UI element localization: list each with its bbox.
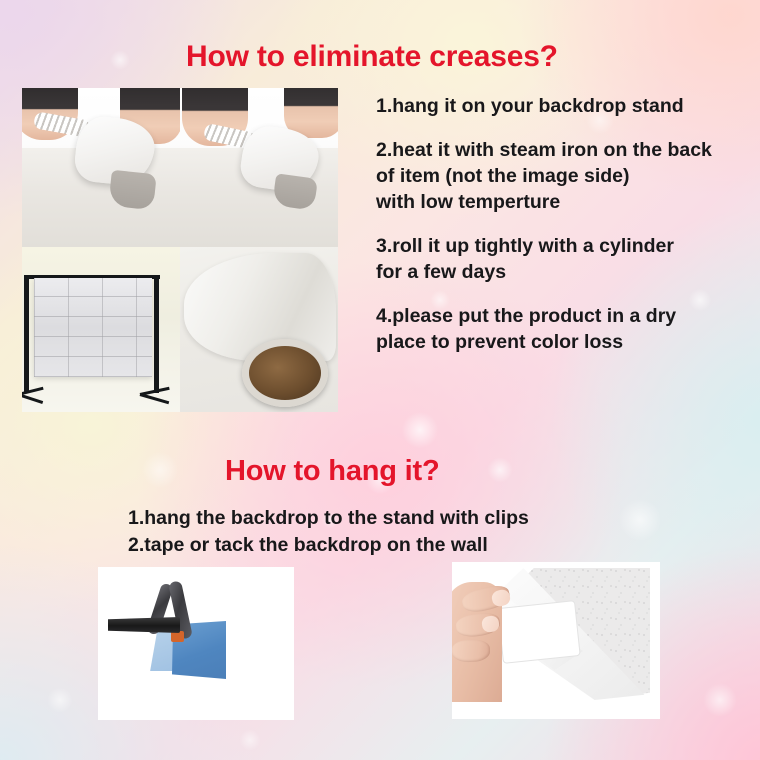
hang-step-2: 2.tape or tack the backdrop on the wall (128, 532, 688, 559)
creases-step-1: 1.hang it on your backdrop stand (376, 93, 756, 119)
hang-step-1: 1.hang the backdrop to the stand with cl… (128, 505, 688, 532)
cardboard-cylinder-core (242, 339, 328, 407)
promo-infographic: How to eliminate creases? 1.hang it on y… (0, 0, 760, 760)
photo-steam-iron-on-backdrop-left (22, 88, 180, 247)
stand-pole-right (154, 275, 159, 393)
creases-step-2-line-3: with low temperture (376, 189, 756, 215)
adhesive-square (497, 600, 580, 664)
stand-bar (108, 617, 180, 633)
page-title-how-to-hang: How to hang it? (225, 455, 439, 488)
photo-steam-iron-on-backdrop-right (180, 88, 338, 247)
photo-rolled-backdrop-cylinder (180, 247, 338, 412)
backdrop-cloth-brick-pattern (34, 278, 152, 377)
creases-step-2-line-1: 2.heat it with steam iron on the back (376, 137, 756, 163)
hang-steps-list: 1.hang the backdrop to the stand with cl… (128, 505, 688, 559)
stand-pole-left (24, 275, 29, 393)
page-title-eliminate-creases: How to eliminate creases? (186, 40, 558, 74)
creases-step-3-line-1: 3.roll it up tightly with a cylinder (376, 233, 756, 259)
creases-steps-list: 1.hang it on your backdrop stand 2.heat … (376, 93, 756, 355)
creases-step-2-line-2: of item (not the image side) (376, 163, 756, 189)
creases-step-2: 2.heat it with steam iron on the back of… (376, 137, 756, 215)
photo-adhesive-tape-backing (452, 562, 660, 719)
creases-step-4-line-1: 4.please put the product in a dry (376, 303, 756, 329)
creases-step-3: 3.roll it up tightly with a cylinder for… (376, 233, 756, 285)
creases-photo-collage (22, 88, 338, 412)
creases-step-1-line-1: 1.hang it on your backdrop stand (376, 93, 756, 119)
photo-backdrop-on-stand (22, 247, 180, 412)
creases-step-3-line-2: for a few days (376, 259, 756, 285)
stand-foot-left (22, 393, 43, 404)
photo-spring-clamp-clip (98, 567, 294, 720)
creases-step-4: 4.please put the product in a dry place … (376, 303, 756, 355)
creases-step-4-line-2: place to prevent color loss (376, 329, 756, 355)
